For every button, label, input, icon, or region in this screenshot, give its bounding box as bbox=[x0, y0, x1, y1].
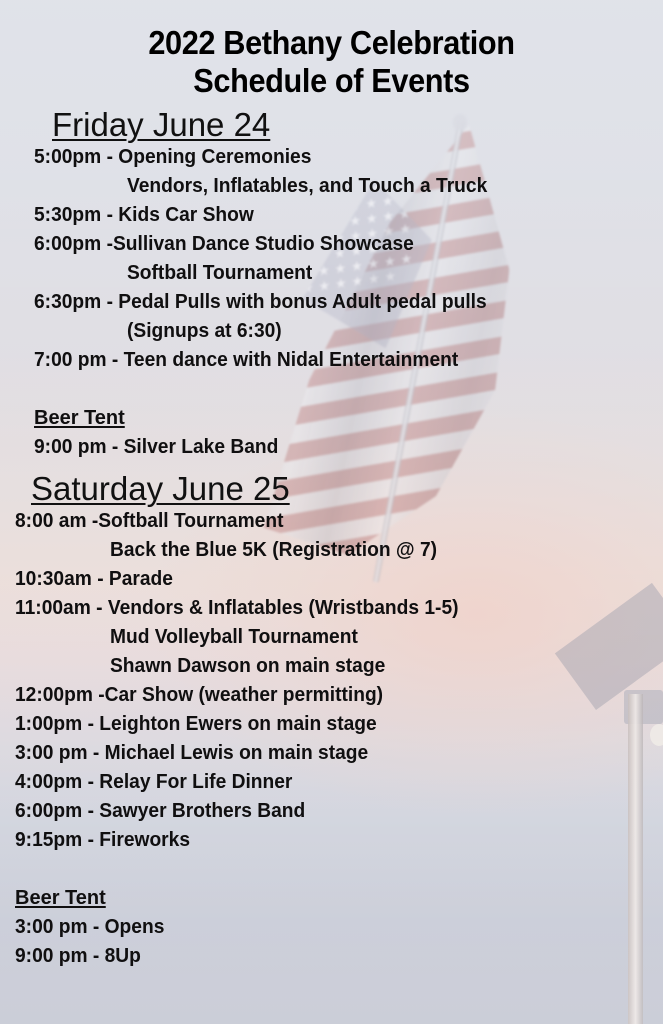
page-title: 2022 Bethany Celebration Schedule of Eve… bbox=[0, 0, 663, 100]
list-item: 5:00pm - Opening Ceremonies bbox=[34, 143, 638, 172]
section-saturday: Saturday June 25 8:00 am -Softball Tourn… bbox=[0, 470, 663, 971]
list-item: 5:30pm - Kids Car Show bbox=[34, 201, 638, 230]
list-item: 7:00 pm - Teen dance with Nidal Entertai… bbox=[34, 346, 638, 375]
list-item: 9:15pm - Fireworks bbox=[15, 826, 637, 855]
list-item: 9:00 pm - Silver Lake Band bbox=[34, 433, 638, 462]
list-item: 12:00pm -Car Show (weather permitting) bbox=[15, 681, 637, 710]
saturday-event-list: 8:00 am -Softball Tournament Back the Bl… bbox=[0, 507, 663, 855]
list-item: 6:00pm -Sullivan Dance Studio Showcase bbox=[34, 230, 638, 259]
title-line-2: Schedule of Events bbox=[23, 62, 640, 100]
list-item: (Signups at 6:30) bbox=[127, 317, 642, 346]
list-item: 1:00pm - Leighton Ewers on main stage bbox=[15, 710, 637, 739]
list-item: 3:00 pm - Opens bbox=[15, 913, 637, 942]
list-item: 10:30am - Parade bbox=[15, 565, 637, 594]
list-item: Vendors, Inflatables, and Touch a Truck bbox=[127, 172, 642, 201]
saturday-beer-tent-heading: Beer Tent bbox=[15, 884, 106, 913]
saturday-beer-tent-list: 3:00 pm - Opens 9:00 pm - 8Up bbox=[0, 913, 663, 971]
event-poster: ★★★★★★★★★★★★★★★★★★★★★★★★★★★★★★★★★★★★★★★★… bbox=[0, 0, 663, 1024]
list-item: Shawn Dawson on main stage bbox=[110, 652, 641, 681]
list-item: 11:00am - Vendors & Inflatables (Wristba… bbox=[15, 594, 637, 623]
list-item: Softball Tournament bbox=[127, 259, 642, 288]
saturday-spacer bbox=[0, 855, 663, 884]
friday-heading: Friday June 24 bbox=[52, 106, 663, 143]
list-item: 6:00pm - Sawyer Brothers Band bbox=[15, 797, 637, 826]
friday-spacer bbox=[0, 375, 663, 404]
friday-event-list: 5:00pm - Opening Ceremonies Vendors, Inf… bbox=[0, 143, 663, 375]
list-item: 4:00pm - Relay For Life Dinner bbox=[15, 768, 637, 797]
list-item: 8:00 am -Softball Tournament bbox=[15, 507, 637, 536]
title-line-1: 2022 Bethany Celebration bbox=[23, 24, 640, 62]
friday-beer-tent-heading: Beer Tent bbox=[34, 404, 125, 433]
friday-beer-tent-heading-wrap: Beer Tent bbox=[34, 404, 663, 433]
list-item: Back the Blue 5K (Registration @ 7) bbox=[110, 536, 641, 565]
saturday-heading: Saturday June 25 bbox=[31, 470, 663, 507]
list-item: Mud Volleyball Tournament bbox=[110, 623, 641, 652]
friday-beer-tent-list: 9:00 pm - Silver Lake Band bbox=[0, 433, 663, 462]
list-item: 6:30pm - Pedal Pulls with bonus Adult pe… bbox=[34, 288, 638, 317]
saturday-beer-tent-heading-wrap: Beer Tent bbox=[15, 884, 663, 913]
list-item: 9:00 pm - 8Up bbox=[15, 942, 637, 971]
list-item: 3:00 pm - Michael Lewis on main stage bbox=[15, 739, 637, 768]
poster-content: 2022 Bethany Celebration Schedule of Eve… bbox=[0, 0, 663, 1024]
section-friday: Friday June 24 5:00pm - Opening Ceremoni… bbox=[0, 106, 663, 462]
